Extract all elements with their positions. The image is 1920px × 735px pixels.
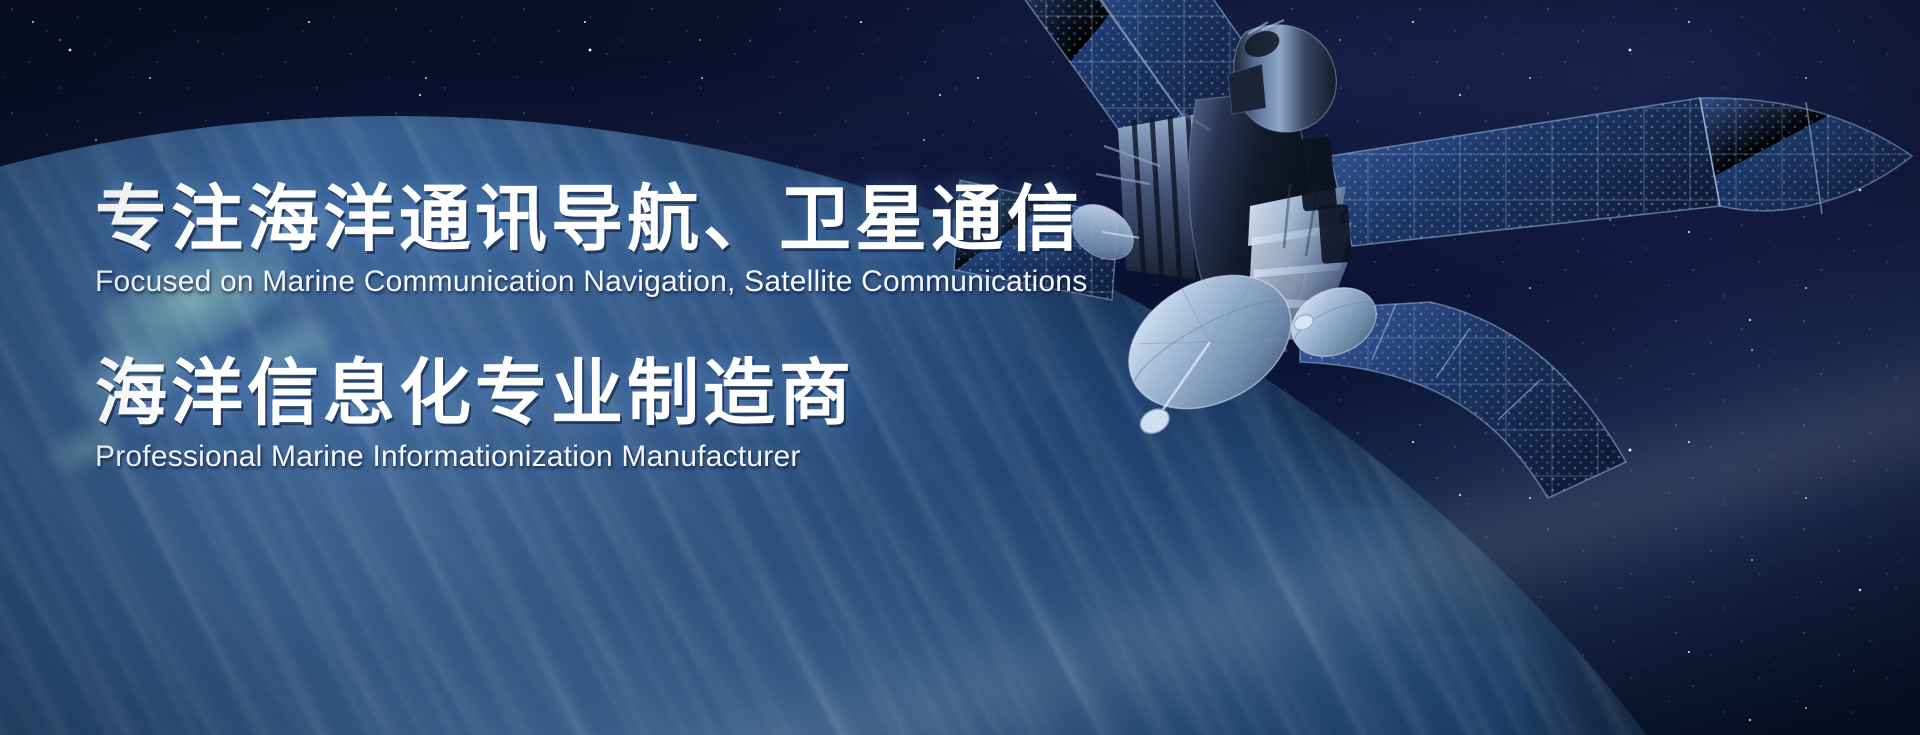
- headline-english-1: Focused on Marine Communication Navigati…: [95, 264, 1355, 300]
- headline-group-2: 海洋信息化专业制造商 Professional Marine Informati…: [95, 356, 1355, 474]
- headline-english-2: Professional Marine Informationization M…: [95, 439, 1355, 475]
- banner-copy: 专注海洋通讯导航、卫星通信 Focused on Marine Communic…: [95, 182, 1355, 475]
- headline-group-1: 专注海洋通讯导航、卫星通信 Focused on Marine Communic…: [95, 182, 1355, 300]
- headline-chinese-1: 专注海洋通讯导航、卫星通信: [95, 182, 1355, 258]
- headline-chinese-2: 海洋信息化专业制造商: [95, 356, 1355, 432]
- hero-banner: 专注海洋通讯导航、卫星通信 Focused on Marine Communic…: [0, 0, 1920, 735]
